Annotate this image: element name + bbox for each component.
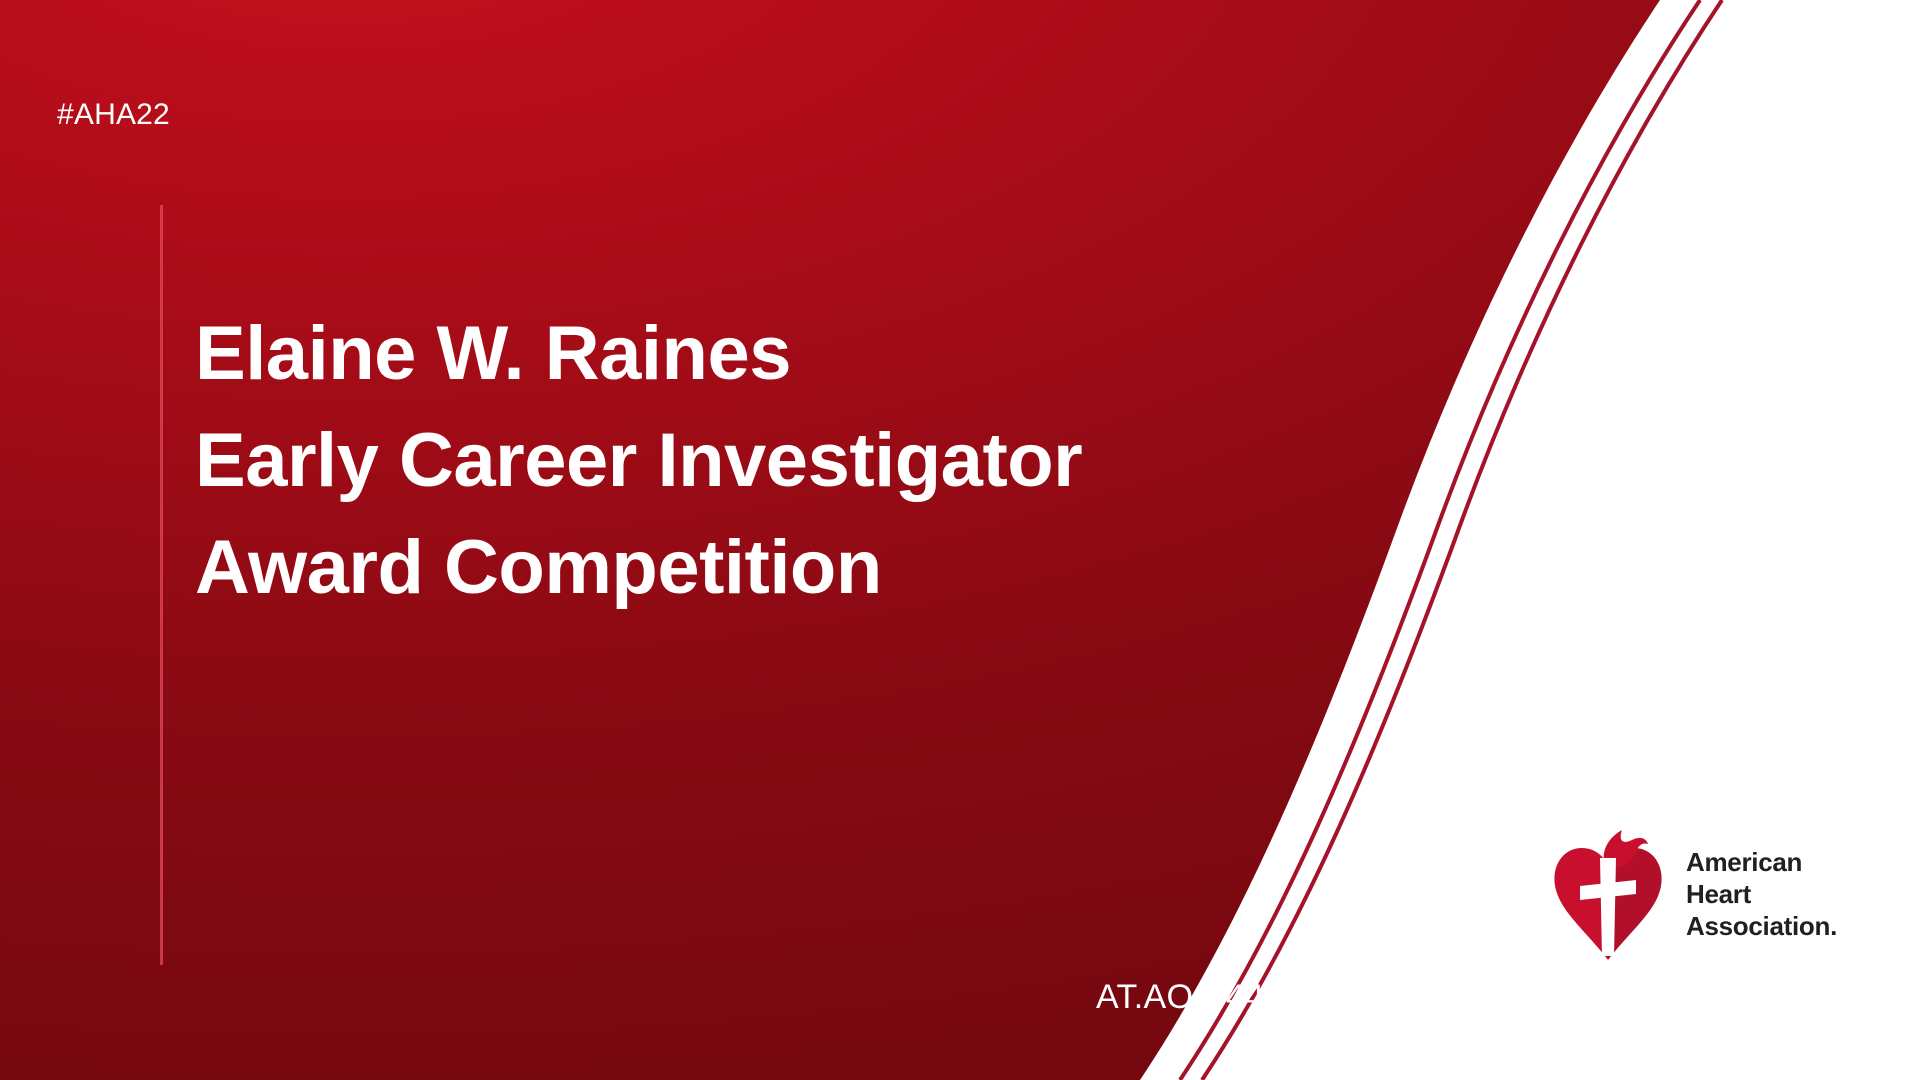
title-line-2: Early Career Investigator [195,407,1295,514]
aha-logo: American Heart Association. [1552,828,1837,960]
title-line-3: Award Competition [195,514,1295,621]
slide-title: Elaine W. Raines Early Career Investigat… [195,300,1295,621]
presentation-slide: #AHA22 Elaine W. Raines Early Career Inv… [0,0,1920,1080]
wordmark-line-3: Association. [1686,910,1837,942]
title-line-1: Elaine W. Raines [195,300,1295,407]
wordmark-line-2: Heart [1686,878,1837,910]
event-hashtag: #AHA22 [57,98,170,132]
session-code: AT.AOS.442 [1096,978,1284,1017]
vertical-accent-rule [160,205,163,965]
aha-wordmark: American Heart Association. [1686,846,1837,942]
wordmark-line-1: American [1686,846,1837,878]
aha-heart-torch-icon [1552,828,1664,960]
